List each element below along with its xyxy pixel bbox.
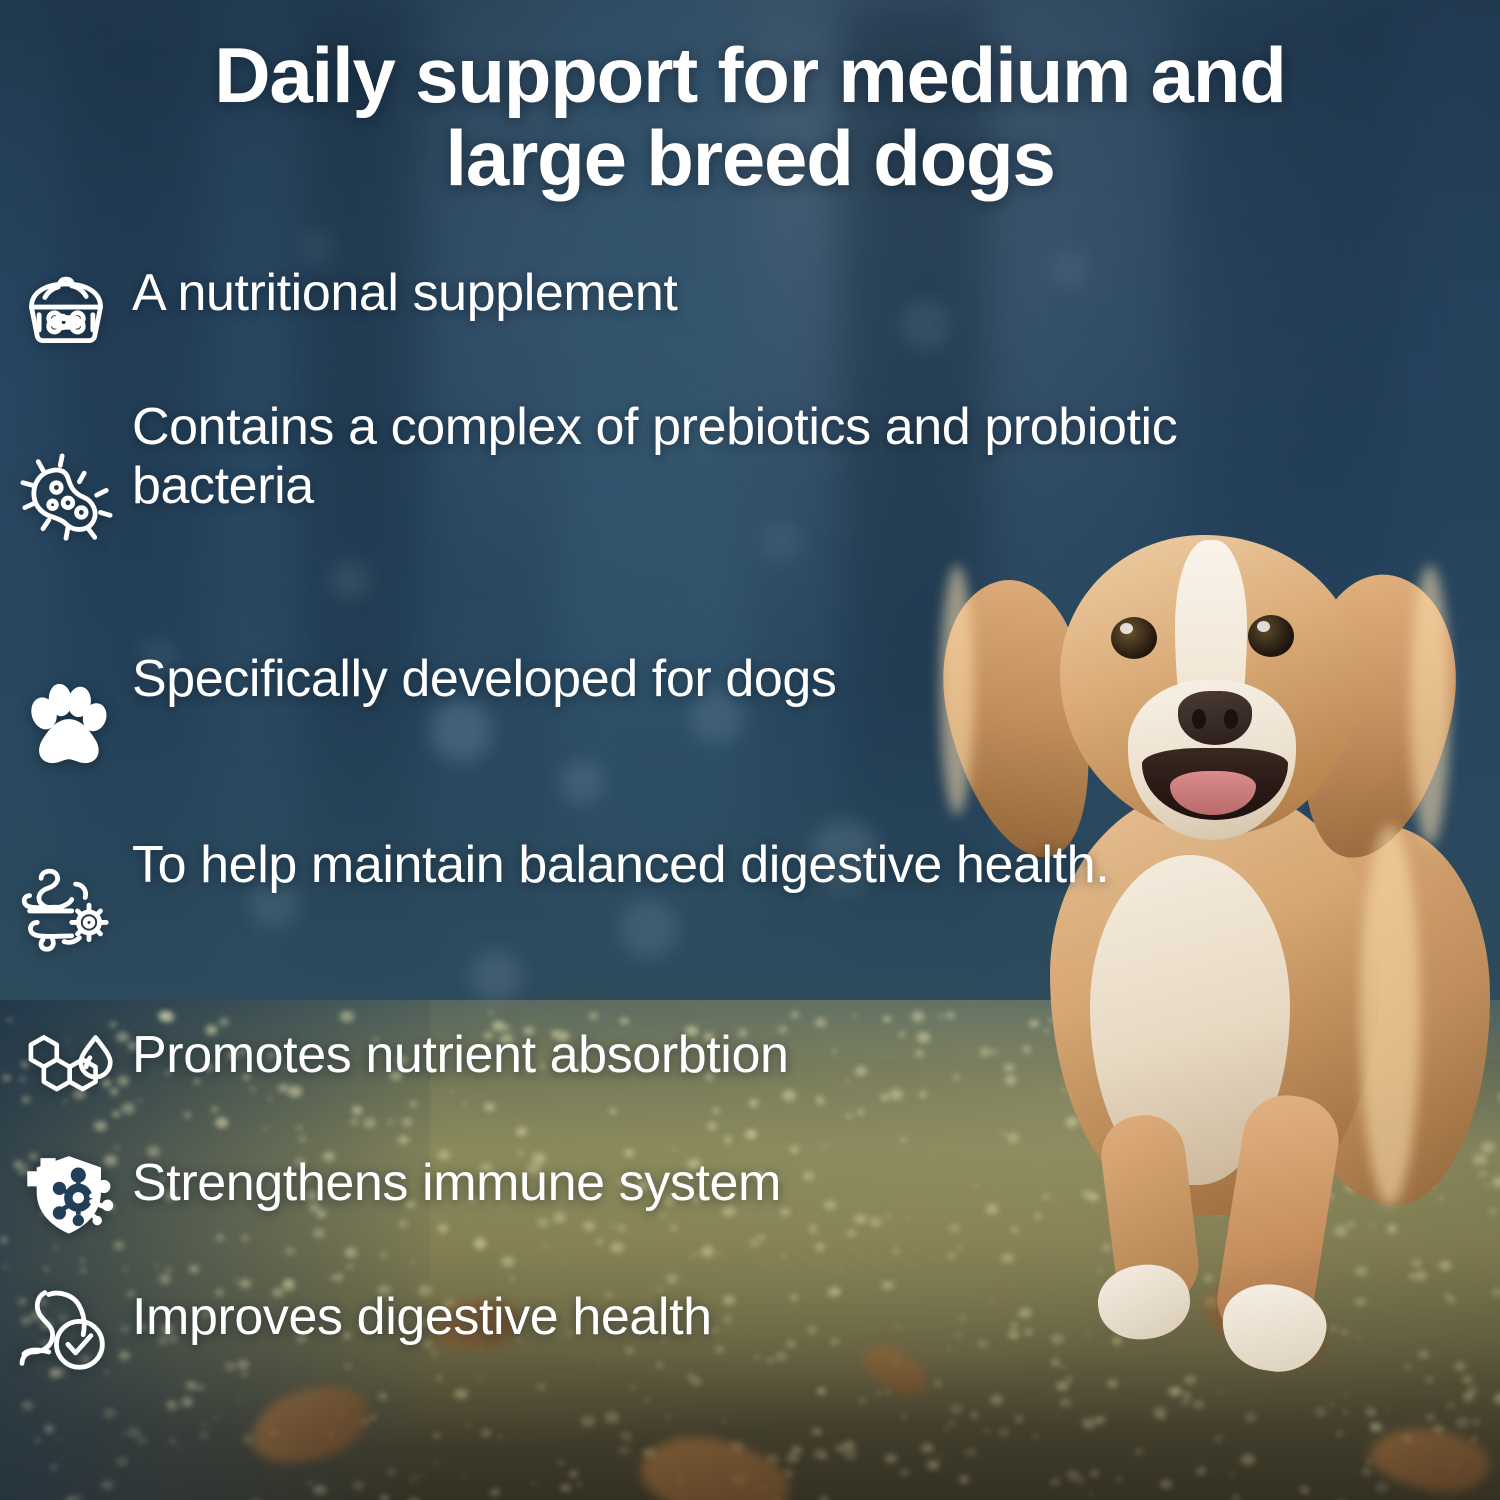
bacteria-probiotic-icon [0,396,132,602]
stomach-check-icon [0,1286,132,1372]
benefit-text: Promotes nutrient absorbtion [132,1024,789,1085]
benefit-item: Contains a complex of prebiotics and pro… [0,396,1360,602]
benefit-text: Improves digestive health [132,1286,712,1347]
benefit-item: Promotes nutrient absorbtion [0,1024,1360,1108]
benefit-text: To help maintain balanced digestive heal… [132,834,1109,895]
benefit-text: A nutritional supplement [132,262,677,323]
content-overlay: Daily support for medium and large breed… [0,0,1500,1500]
benefit-item: Improves digestive health [0,1286,1360,1372]
benefit-item: A nutritional supplement [0,262,1360,354]
benefit-item: To help maintain balanced digestive heal… [0,834,1360,984]
benefit-text: Specifically developed for dogs [132,648,836,709]
benefit-text: Contains a complex of prebiotics and pro… [132,396,1360,516]
intestine-gear-icon [0,834,132,984]
honeycomb-droplet-icon [0,1024,132,1108]
benefit-text: Strengthens immune system [132,1152,781,1213]
dog-food-bowl-icon [0,262,132,354]
paw-print-icon [0,648,132,796]
shield-immune-icon [0,1152,132,1236]
marketing-infographic: Daily support for medium and large breed… [0,0,1500,1500]
benefit-list: A nutritional supplement Contains a comp… [0,262,1360,1378]
benefit-item: Strengthens immune system [0,1152,1360,1236]
page-title: Daily support for medium and large breed… [0,34,1500,199]
benefit-item: Specifically developed for dogs [0,648,1360,796]
